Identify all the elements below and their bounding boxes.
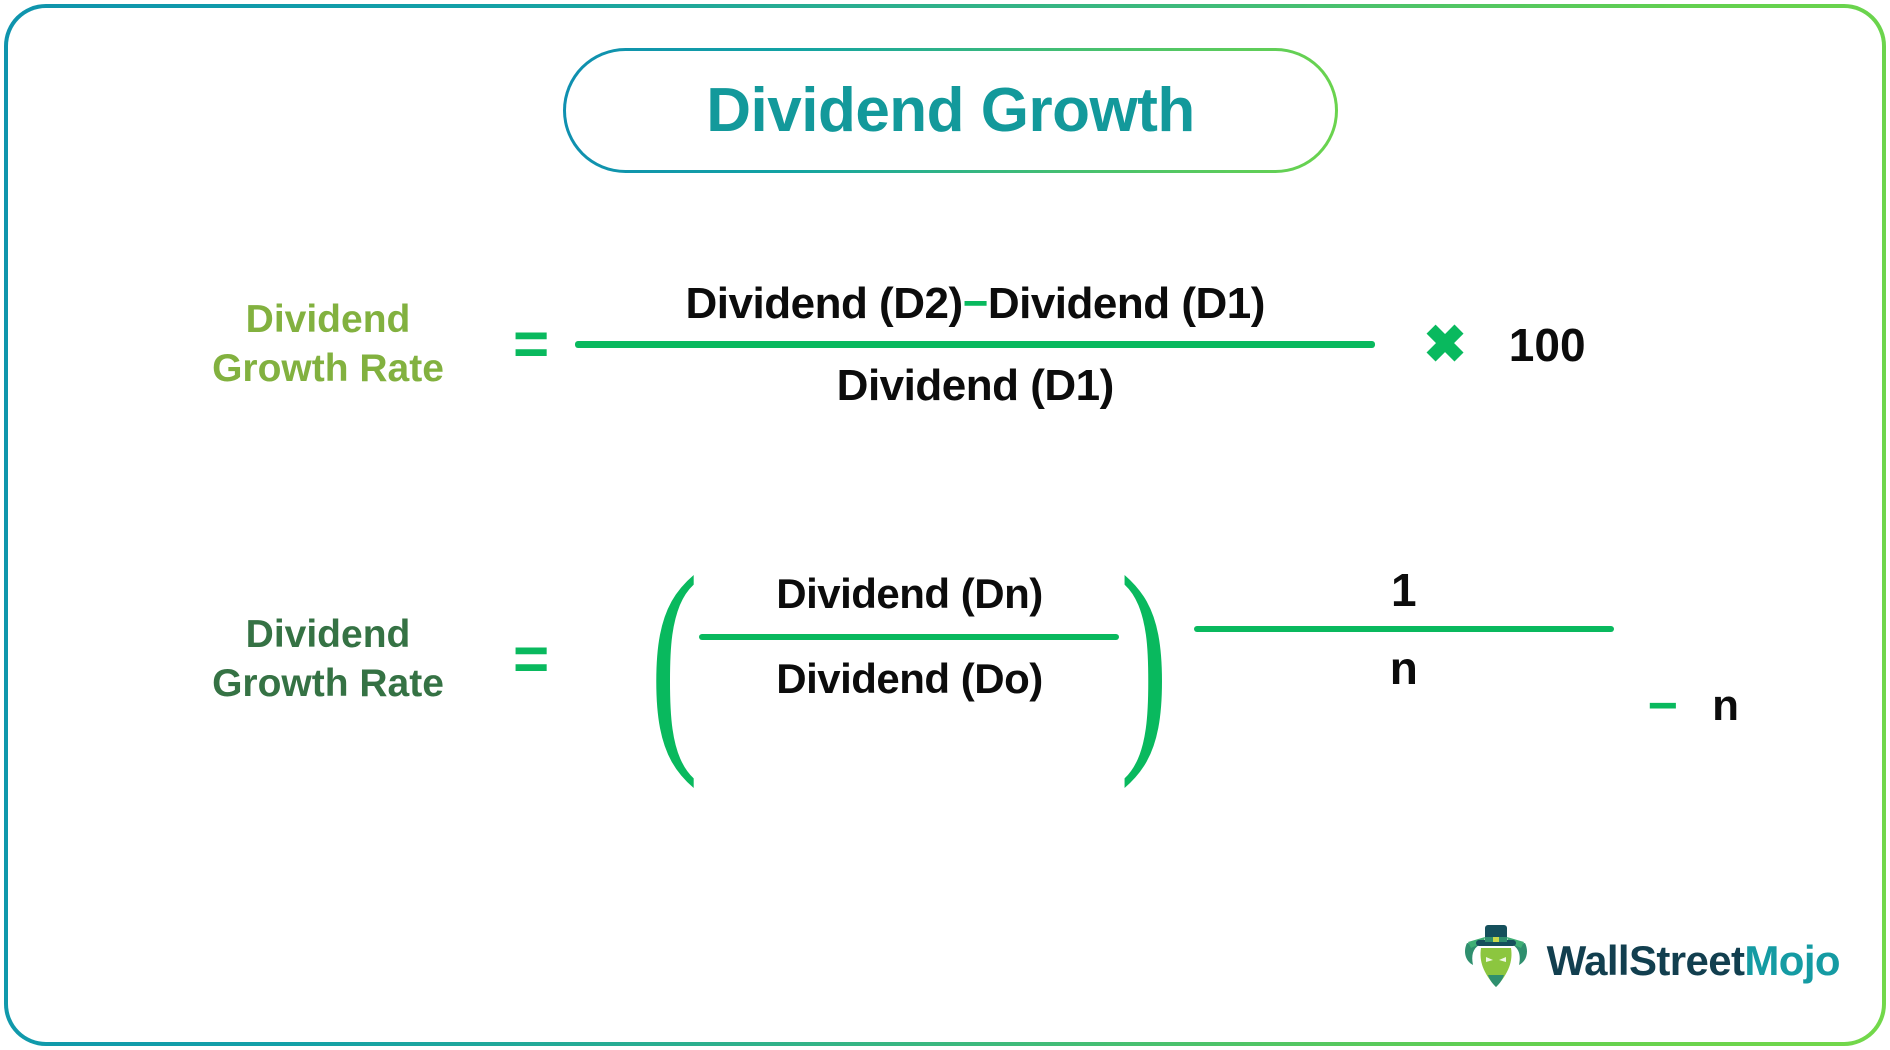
formula-2-trailing-term: n <box>1712 684 1739 728</box>
title-pill: Dividend Growth <box>563 48 1338 173</box>
formula-2-label-line2: Growth Rate <box>163 660 493 709</box>
infographic-card: Dividend Growth Dividend Growth Rate = D… <box>4 4 1886 1046</box>
formula-row-1: Dividend Growth Rate = Dividend (D2)−Div… <box>163 276 1586 413</box>
formula-1-numerator: Dividend (D2)−Dividend (D1) <box>676 276 1275 331</box>
brand-logo: WallStreetMojo <box>1459 921 1840 1000</box>
formula-1-multiplier-group: ✖ 100 <box>1423 319 1585 371</box>
formula-1-label-line2: Growth Rate <box>163 345 493 394</box>
formula-1-label: Dividend Growth Rate <box>163 296 493 394</box>
title-pill-inner: Dividend Growth <box>566 51 1335 170</box>
formula-2-exponent-denominator: n <box>1390 645 1418 691</box>
formula-1-fraction: Dividend (D2)−Dividend (D1) Dividend (D1… <box>575 276 1375 413</box>
right-parenthesis-icon: ) <box>1120 568 1169 751</box>
formula-2-exponent-group: 1 n <box>1194 567 1614 691</box>
bull-mascot-icon <box>1459 921 1533 1000</box>
formula-2-fraction-bar <box>699 634 1119 640</box>
formula-2-denominator: Dividend (Do) <box>768 653 1050 706</box>
formula-row-2: Dividend Growth Rate = ( Dividend (Dn) D… <box>163 568 1739 751</box>
formula-2-exponent-fraction: 1 n <box>1194 567 1614 691</box>
formula-2-fraction: Dividend (Dn) Dividend (Do) <box>699 568 1119 751</box>
formula-1-denominator: Dividend (D1) <box>837 358 1114 413</box>
left-parenthesis-icon: ( <box>650 568 699 751</box>
formula-2-exponent-bar <box>1194 626 1614 632</box>
card-inner-surface: Dividend Growth Dividend Growth Rate = D… <box>8 8 1882 1042</box>
brand-name-secondary: Mojo <box>1744 937 1840 984</box>
formula-1-fraction-bar <box>575 341 1375 348</box>
formula-1-numerator-term-2: Dividend (D1) <box>988 279 1265 328</box>
formula-2-parenthesized-group: ( Dividend (Dn) Dividend (Do) ) <box>635 568 1184 751</box>
page-title: Dividend Growth <box>706 75 1195 146</box>
formula-1-label-line1: Dividend <box>163 296 493 345</box>
brand-name: WallStreetMojo <box>1547 937 1840 985</box>
formula-2-numerator: Dividend (Dn) <box>768 568 1050 621</box>
formula-1-numerator-operator: − <box>963 279 988 328</box>
formula-2-label-line1: Dividend <box>163 611 493 660</box>
formula-2-trailing-group: − n <box>1648 680 1739 732</box>
formula-1-equals: = <box>513 314 549 376</box>
formula-2-trailing-operator: − <box>1648 680 1678 732</box>
formula-2-equals: = <box>513 629 549 691</box>
formula-1-multiplier-value: 100 <box>1509 322 1586 368</box>
formula-1-numerator-term-1: Dividend (D2) <box>686 279 963 328</box>
multiply-icon: ✖ <box>1423 319 1467 371</box>
formula-2-label: Dividend Growth Rate <box>163 611 493 709</box>
brand-name-primary: WallStreet <box>1547 937 1745 984</box>
formula-2-exponent-numerator: 1 <box>1391 567 1417 613</box>
